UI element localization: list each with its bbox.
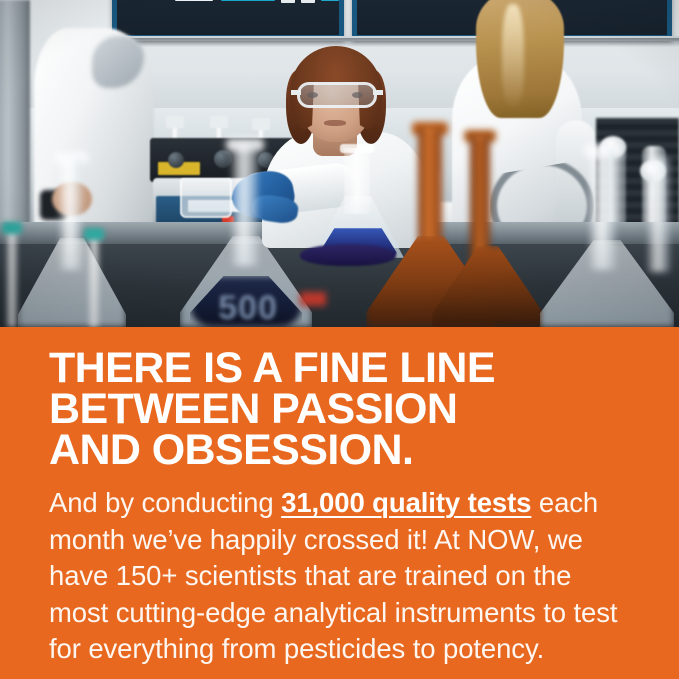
headline: THERE IS A FINE LINE BETWEEN PASSION AND…: [49, 348, 649, 471]
body-paragraph: And by conducting 31,000 quality tests e…: [49, 485, 635, 668]
promo-banner: 500 THERE IS A FINE LINE BETWEEN PASSION…: [0, 0, 679, 679]
cabinet-shadow: [106, 38, 679, 47]
flask-500-red-marker: [300, 292, 326, 306]
spilled-blue-liquid: [300, 244, 396, 266]
headline-line-3: AND OBSESSION.: [49, 430, 649, 471]
goggle-strap-right: [373, 90, 383, 95]
pipette-cap-2: [84, 228, 104, 240]
headline-line-1: THERE IS A FINE LINE: [49, 348, 649, 389]
orange-message-panel: THERE IS A FINE LINE BETWEEN PASSION AND…: [0, 327, 679, 679]
body-text-before: And by conducting: [49, 487, 281, 518]
safety-goggles-icon: [297, 82, 377, 108]
foreground-flask-far-neck: [648, 158, 670, 272]
instrument-knob-1: [168, 152, 184, 168]
small-beaker: [180, 178, 232, 218]
headline-line-2: BETWEEN PASSION: [49, 389, 649, 430]
tube-cap-3: [252, 118, 270, 130]
foreground-pipette-2: [88, 236, 100, 327]
instrument-knob-2: [214, 150, 232, 168]
goggle-strap-left: [291, 90, 301, 95]
laboratory-photo: 500: [0, 0, 679, 327]
tube-cap-1: [166, 116, 184, 128]
upper-cabinet-left: [112, 0, 344, 40]
foreground-pipette-1: [6, 230, 18, 327]
flask-500-volume-label: 500: [196, 288, 300, 327]
scientist-right-hair-highlight: [502, 4, 524, 110]
pipette-cap-1: [2, 222, 22, 234]
tube-cap-2: [210, 116, 228, 128]
scientist-mouth: [324, 120, 346, 126]
quality-tests-emphasis: 31,000 quality tests: [281, 487, 531, 518]
